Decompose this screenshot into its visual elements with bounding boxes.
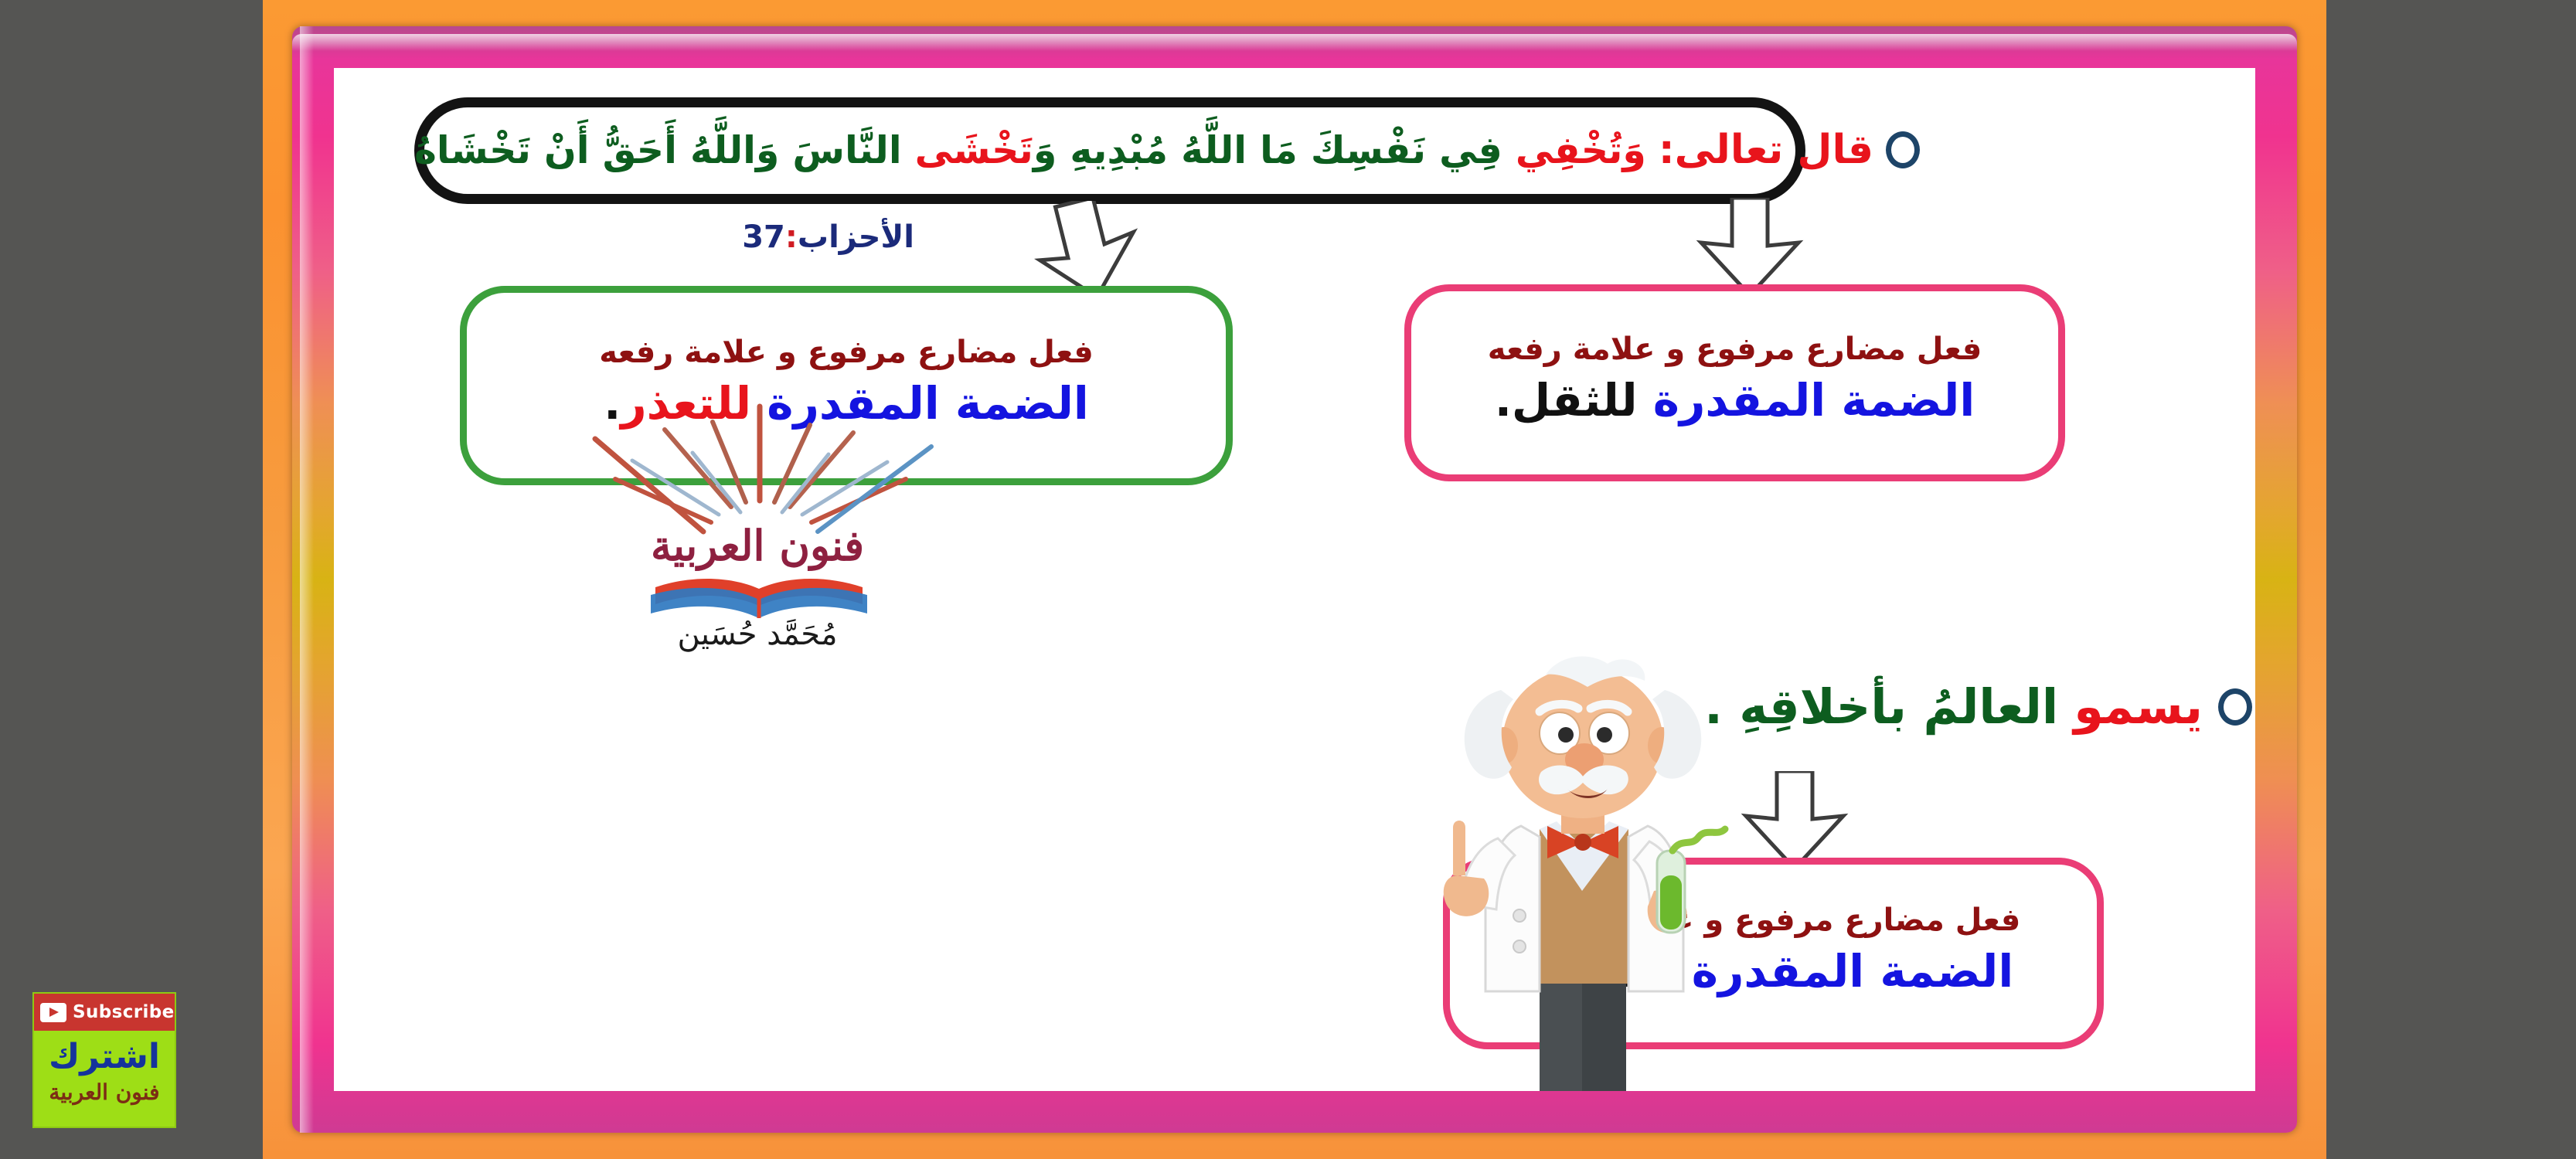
subscribe-button[interactable]: Subscribe: [34, 994, 175, 1031]
subscribe-label-ar: اشترك: [34, 1040, 175, 1074]
subscribe-label-en: Subscribe: [73, 1002, 175, 1022]
example-two-verb: يسمو: [2074, 678, 2203, 735]
arrow-down-icon: [1692, 198, 1808, 298]
slide-root: قال تعالى: وَتُخْفِي فِي نَفْسِكَ مَا ال…: [0, 0, 2576, 1159]
arrow-to-pink-box-bottom: [1737, 771, 1853, 872]
verse-text: وَتُخْفِي فِي نَفْسِكَ مَا اللَّهُ مُبْد…: [414, 128, 1646, 172]
channel-logo: فنون العربية مُحَمَّد حُسَين: [541, 385, 974, 694]
verse-plain-1: فِي نَفْسِكَ مَا اللَّهُ مُبْدِيهِ وَ: [1033, 128, 1516, 172]
verse-highlight-2: تَخْشَى: [915, 128, 1033, 172]
cartoon-scientist-icon: [1424, 644, 1733, 1091]
verse-highlight-1: وَتُخْفِي: [1516, 128, 1646, 172]
verse-plain-2: النَّاسَ وَاللَّهُ أَحَقُّ أَنْ تَخْشَاه…: [414, 128, 915, 172]
circle-bullet-icon: [1886, 131, 1920, 168]
content-board: قال تعالى: وَتُخْفِي فِي نَفْسِكَ مَا ال…: [334, 68, 2255, 1091]
source-name: الأحزاب: [798, 219, 914, 255]
subscribe-channel-name: فنون العربية: [34, 1082, 175, 1103]
analysis-pink-top-period: .: [1495, 374, 1512, 427]
analysis-pink-top-top-text: فعل مضارع مرفوع و علامة رفعه: [1488, 331, 1982, 368]
source-separator: :: [785, 219, 798, 255]
logo-author: مُحَمَّد حُسَين: [541, 617, 974, 652]
verse-source-reference: الأحزاب:37: [742, 219, 914, 255]
source-number: 37: [742, 219, 785, 255]
analysis-box-pink-top: فعل مضارع مرفوع و علامة رفعه الضمة المقد…: [1404, 284, 2065, 481]
example-sentence-two: يسمو العالمُ بأخلاقِهِ .: [1704, 678, 2252, 735]
analysis-pink-bottom-blue-part: الضمة المقدرة: [1692, 945, 2013, 998]
analysis-pink-top-blue-part: الضمة المقدرة: [1653, 374, 1975, 427]
youtube-play-icon: [40, 1003, 66, 1022]
logo-title: فنون العربية: [541, 521, 974, 570]
analysis-pink-top-bottom-text: الضمة المقدرة للثقل.: [1495, 372, 1975, 429]
analysis-pink-top-accent-part: للثقل: [1512, 374, 1638, 427]
verse-intro-label: قال تعالى:: [1659, 127, 1873, 173]
verse-line: قال تعالى: وَتُخْفِي فِي نَفْسِكَ مَا ال…: [414, 96, 2184, 204]
arrow-down-icon: [1737, 771, 1853, 872]
example-two-rest: العالمُ بأخلاقِهِ .: [1704, 678, 2058, 735]
subscribe-badge[interactable]: Subscribe اشترك فنون العربية: [32, 992, 176, 1128]
analysis-green-top-text: فعل مضارع مرفوع و علامة رفعه: [599, 334, 1094, 371]
arrow-to-pink-box-top: [1692, 198, 1808, 298]
circle-bullet-icon-2: [2218, 688, 2252, 726]
